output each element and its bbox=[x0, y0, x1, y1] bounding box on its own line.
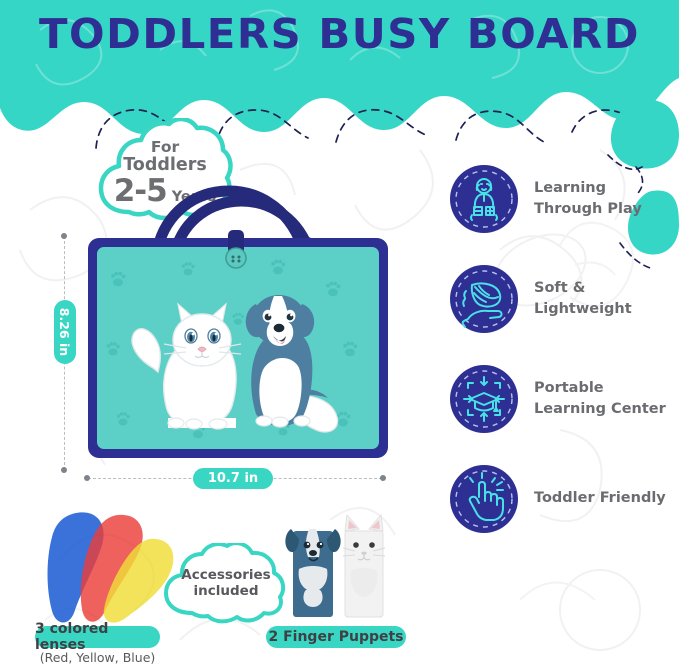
feature-label-learning-through-play: Learning Through Play bbox=[534, 178, 642, 220]
feature-label-line1: Toddler Friendly bbox=[534, 488, 666, 509]
puppets-label: 2 Finger Puppets bbox=[266, 626, 406, 648]
finger-puppets-illustration bbox=[283, 507, 391, 625]
width-dimension-dot-right bbox=[380, 475, 386, 481]
feature-label-portable-learning-center: Portable Learning Center bbox=[534, 378, 666, 420]
feature-label-line2: Through Play bbox=[534, 199, 642, 220]
width-dimension-dot-left bbox=[84, 475, 90, 481]
dog-finger-puppet bbox=[285, 529, 340, 617]
width-dimension: 10.7 in bbox=[80, 468, 390, 490]
feature-label-soft-lightweight: Soft & Lightweight bbox=[534, 278, 632, 320]
feature-item-soft-lightweight: Soft & Lightweight bbox=[448, 260, 679, 338]
baby-blocks-icon bbox=[448, 163, 520, 235]
cat-finger-puppet bbox=[343, 515, 385, 617]
accessories-cloud-line1: Accessories bbox=[181, 568, 270, 584]
feature-label-line1: Learning bbox=[534, 178, 642, 199]
infographic-root: TODDLERS BUSY BOARD For Toddlers 2-5 Yea… bbox=[0, 0, 679, 667]
graduation-cap-arrows-icon bbox=[448, 363, 520, 435]
height-dimension: 8.26 in bbox=[52, 228, 78, 478]
feature-item-toddler-friendly: Toddler Friendly bbox=[448, 460, 679, 538]
product-image bbox=[78, 118, 398, 478]
lenses-label: 3 colored lenses bbox=[35, 626, 160, 648]
width-dimension-label: 10.7 in bbox=[193, 468, 273, 489]
height-dimension-label: 8.26 in bbox=[54, 300, 76, 364]
feature-item-portable-learning-center: Portable Learning Center bbox=[448, 360, 679, 438]
feature-item-learning-through-play: Learning Through Play bbox=[448, 160, 679, 238]
height-dimension-dot-top bbox=[61, 233, 67, 239]
accessories-cloud-line2: included bbox=[194, 584, 259, 600]
bag-button bbox=[226, 230, 246, 268]
page-title: TODDLERS BUSY BOARD bbox=[0, 14, 679, 55]
accessories-cloud-badge: Accessories included bbox=[160, 543, 292, 625]
lenses-sublabel: (Red, Yellow, Blue) bbox=[35, 650, 160, 665]
feature-label-line2: Lightweight bbox=[534, 299, 632, 320]
busy-board-bag bbox=[78, 118, 398, 478]
height-dimension-dot-bottom bbox=[61, 467, 67, 473]
feature-label-line1: Portable bbox=[534, 378, 666, 399]
feature-label-line2: Learning Center bbox=[534, 399, 666, 420]
feature-label-toddler-friendly: Toddler Friendly bbox=[534, 488, 666, 509]
feather-hand-icon bbox=[448, 263, 520, 335]
feature-list: Learning Through Play bbox=[448, 160, 679, 560]
accessories-section: 3 colored lenses (Red, Yellow, Blue) Acc… bbox=[0, 495, 460, 667]
feature-label-line1: Soft & bbox=[534, 278, 632, 299]
